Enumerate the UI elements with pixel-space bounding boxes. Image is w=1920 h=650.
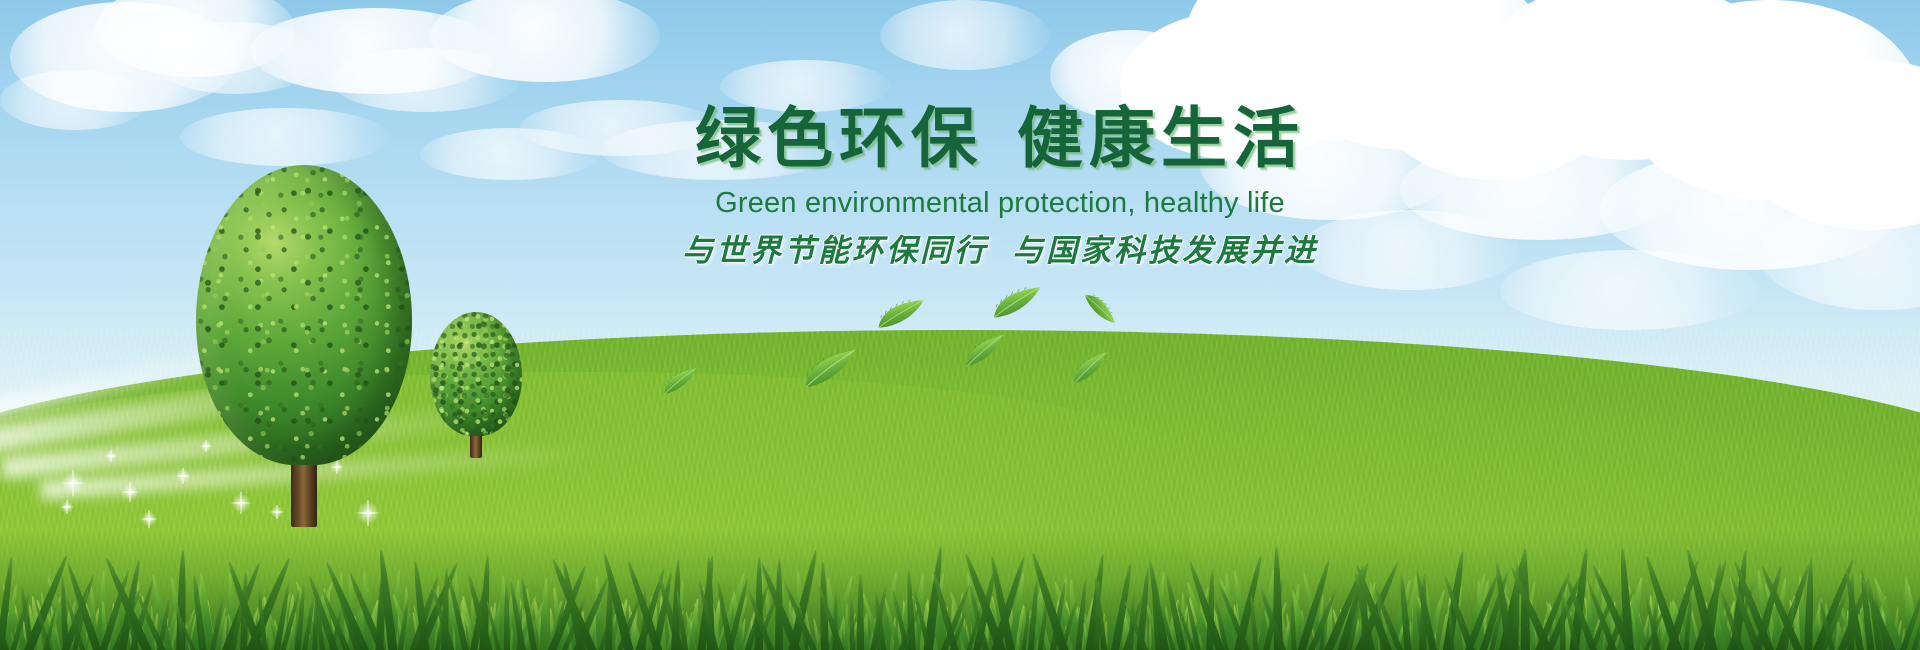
cloud-puff <box>420 128 600 180</box>
small-tree-foliage-texture <box>430 312 522 436</box>
banner-text-block: 绿色环保健康生活 Green environmental protection,… <box>620 105 1380 268</box>
small-tree <box>430 312 522 436</box>
grass-fringe <box>0 530 1920 650</box>
big-tree-canopy <box>196 165 412 465</box>
headline-part-1: 绿色环保 <box>695 101 983 175</box>
slogan-part-1: 与世界节能环保同行 <box>682 233 988 269</box>
headline-part-2: 健康生活 <box>1017 101 1305 175</box>
slogan-chinese: 与世界节能环保同行与国家科技发展并进 <box>620 234 1380 268</box>
grass-blade <box>857 574 864 650</box>
big-tree <box>196 165 412 465</box>
cloud-puff <box>0 70 150 130</box>
slogan-part-2: 与国家科技发展并进 <box>1012 233 1318 269</box>
subtitle-english: Green environmental protection, healthy … <box>620 189 1380 218</box>
small-tree-canopy <box>430 312 522 436</box>
headline: 绿色环保健康生活 <box>620 105 1380 171</box>
eco-banner: 绿色环保健康生活 Green environmental protection,… <box>0 0 1920 650</box>
cloud-puff <box>1500 250 1760 330</box>
cloud-puff <box>180 108 390 166</box>
big-tree-foliage-texture <box>196 165 412 465</box>
cloud-puff <box>880 0 1050 70</box>
